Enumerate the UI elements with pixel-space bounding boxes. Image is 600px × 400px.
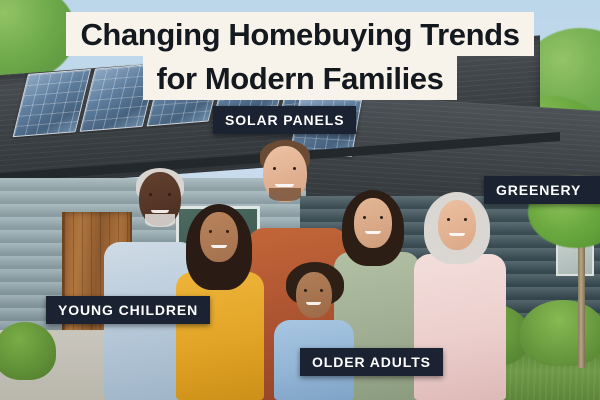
title-banner: Changing Homebuying Trends for Modern Fa… <box>0 12 600 100</box>
title-line-2: for Modern Families <box>143 56 458 100</box>
title-line-1: Changing Homebuying Trends <box>66 12 533 56</box>
callout-label-young-children: YOUNG CHILDREN <box>46 296 210 324</box>
image-canvas: Changing Homebuying Trends for Modern Fa… <box>0 0 600 400</box>
shrub-left <box>0 322 56 380</box>
callout-label-solar-panels: SOLAR PANELS <box>213 106 356 134</box>
callout-label-older-adults: OLDER ADULTS <box>300 348 443 376</box>
shrub-right-b <box>520 300 600 366</box>
callout-label-greenery: GREENERY <box>484 176 600 204</box>
